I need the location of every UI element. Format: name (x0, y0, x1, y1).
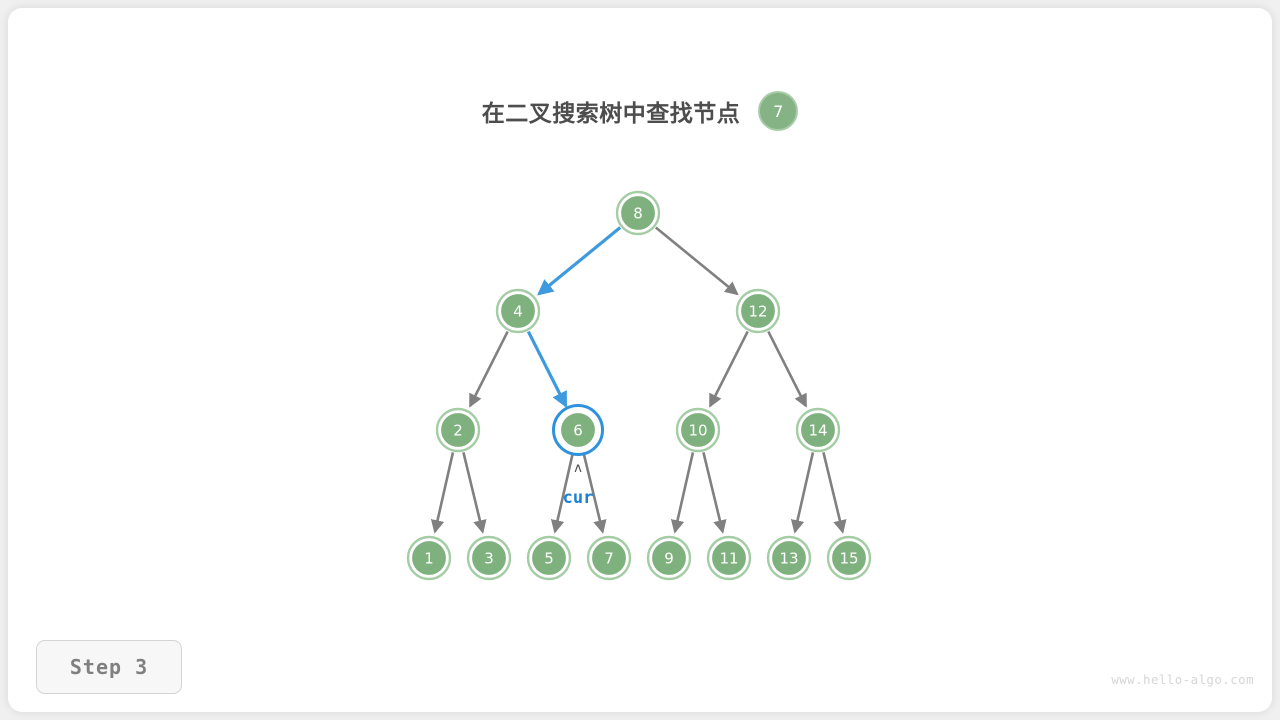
tree-node-13: 13 (768, 537, 810, 579)
tree-node-1: 1 (408, 537, 450, 579)
tree-node-12: 12 (737, 290, 779, 332)
step-badge: Step 3 (36, 640, 182, 694)
tree-node-3: 3 (468, 537, 510, 579)
tree-node-8: 8 (617, 192, 659, 234)
watermark-url: www.hello-algo.com (1111, 672, 1254, 687)
node-value-label: 14 (808, 422, 827, 440)
tree-edge-n14-n13 (795, 452, 813, 531)
node-value-label: 6 (573, 422, 583, 440)
tree-edge-n4-n6 (528, 332, 565, 406)
node-value-label: 5 (544, 550, 554, 568)
tree-edge-n2-n3 (463, 452, 482, 531)
tree-node-2: 2 (437, 409, 479, 451)
tree-edge-n8-n12 (656, 228, 737, 294)
tree-edge-n10-n11 (703, 452, 722, 531)
tree-node-7: 7 (588, 537, 630, 579)
node-value-label: 8 (633, 205, 643, 223)
node-value-label: 15 (839, 550, 858, 568)
tree-edge-n12-n14 (768, 332, 805, 406)
tree-node-14: 14 (797, 409, 839, 451)
tree-nodes-layer: 841226101413579111315 (408, 192, 870, 579)
tree-edge-n8-n4 (539, 228, 620, 294)
diagram-canvas: 在二叉搜索树中查找节点 7 841226101413579111315 ʌcur… (0, 0, 1280, 720)
tree-edges-layer (435, 228, 843, 532)
node-value-label: 7 (604, 550, 614, 568)
pointer-label-cur: cur (563, 488, 594, 508)
tree-edge-n4-n2 (470, 332, 507, 406)
node-value-label: 2 (453, 422, 463, 440)
binary-search-tree-graphic: 841226101413579111315 ʌcur (0, 0, 1280, 720)
tree-edge-n12-n10 (710, 332, 747, 406)
node-value-label: 13 (779, 550, 798, 568)
tree-node-10: 10 (677, 409, 719, 451)
tree-edge-n2-n1 (435, 452, 453, 531)
node-value-label: 1 (424, 550, 434, 568)
node-value-label: 10 (688, 422, 707, 440)
tree-node-15: 15 (828, 537, 870, 579)
tree-edge-n10-n9 (675, 452, 693, 531)
step-badge-label: Step 3 (70, 655, 148, 679)
tree-node-5: 5 (528, 537, 570, 579)
tree-node-11: 11 (708, 537, 750, 579)
node-value-label: 11 (719, 550, 738, 568)
tree-node-9: 9 (648, 537, 690, 579)
node-value-label: 3 (484, 550, 494, 568)
node-value-label: 9 (664, 550, 674, 568)
pointer-annotations-layer: ʌcur (563, 461, 594, 508)
node-value-label: 4 (513, 303, 523, 321)
tree-edge-n14-n15 (823, 452, 842, 531)
tree-node-4: 4 (497, 290, 539, 332)
pointer-caret-icon: ʌ (574, 461, 582, 476)
node-value-label: 12 (748, 303, 767, 321)
tree-node-6: 6 (554, 406, 603, 455)
